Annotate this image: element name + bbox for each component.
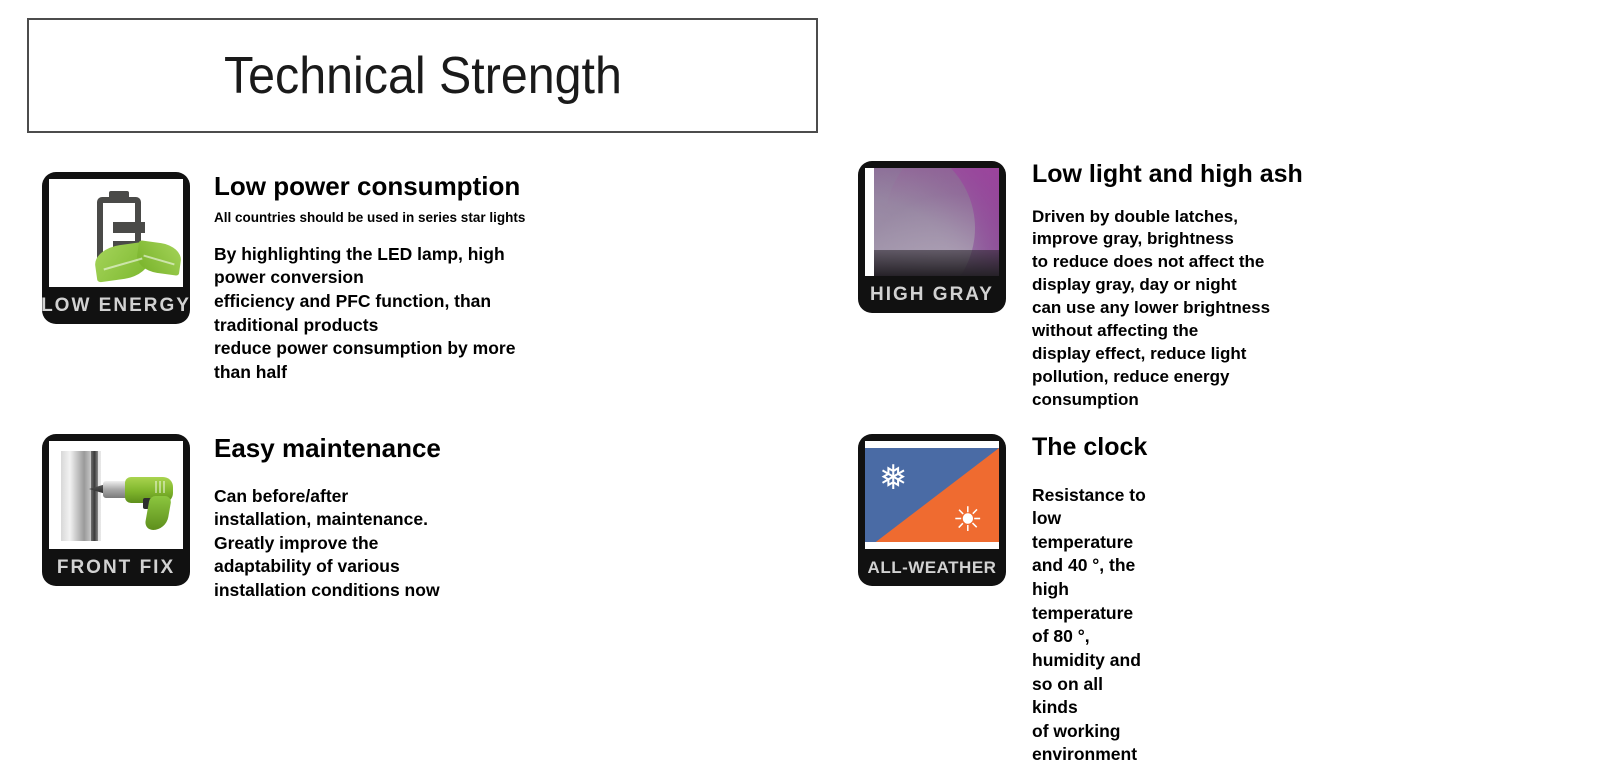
icon-tile-low-energy: LOW ENERGY [42,172,190,324]
sun-icon: ☀ [953,503,983,537]
battery-level-bar [113,222,145,233]
feature-body: Can before/after installation, maintenan… [214,485,441,603]
battery-leaf-icon [49,179,183,287]
weather-art: ❅ ☀ [865,441,999,549]
snowflake-sun-icon: ❅ ☀ [865,441,999,549]
icon-tile-all-weather: ❅ ☀ ALL-WEATHER [858,434,1006,586]
icon-label-low-energy: LOW ENERGY [42,287,190,324]
icon-label-front-fix: FRONT FIX [42,549,190,586]
feature-body: By highlighting the LED lamp, high power… [214,243,525,385]
icon-label-high-gray: HIGH GRAY [858,276,1006,313]
feature-body: Driven by double latches, improve gray, … [1032,206,1303,412]
feature-text-all-weather: The clock Resistance to low temperature … [1032,434,1147,767]
feature-heading: Easy maintenance [214,434,441,463]
feature-heading: Low light and high ash [1032,161,1303,189]
panel-slot [91,451,98,541]
gray-gradient-art [865,168,999,276]
drill-handle [144,496,172,530]
feature-text-high-gray: Low light and high ash Driven by double … [1032,161,1303,412]
feature-heading: The clock [1032,434,1147,462]
drill-panel-icon [49,441,183,549]
snowflake-icon: ❅ [879,461,908,495]
gray-gradient-swatch-icon [865,168,999,276]
swatch-white-edge [865,168,874,276]
feature-heading: Low power consumption [214,172,525,201]
gradient-shadow [865,250,999,276]
icon-label-all-weather: ALL-WEATHER [858,549,1006,586]
page-title: Technical Strength [224,46,622,106]
feature-subline: All countries should be used in series s… [214,210,525,226]
drill-vent [163,481,165,493]
feature-text-low-energy: Low power consumption All countries shou… [214,172,525,385]
battery-icon [93,191,145,269]
feature-text-front-fix: Easy maintenance Can before/after instal… [214,434,441,603]
page-title-box: Technical Strength [27,18,818,133]
icon-tile-high-gray: HIGH GRAY [858,161,1006,313]
icon-tile-front-fix: FRONT FIX [42,434,190,586]
feature-body: Resistance to low temperature and 40 °, … [1032,484,1147,767]
drill-vent [159,481,161,493]
drill-vent [155,481,157,493]
